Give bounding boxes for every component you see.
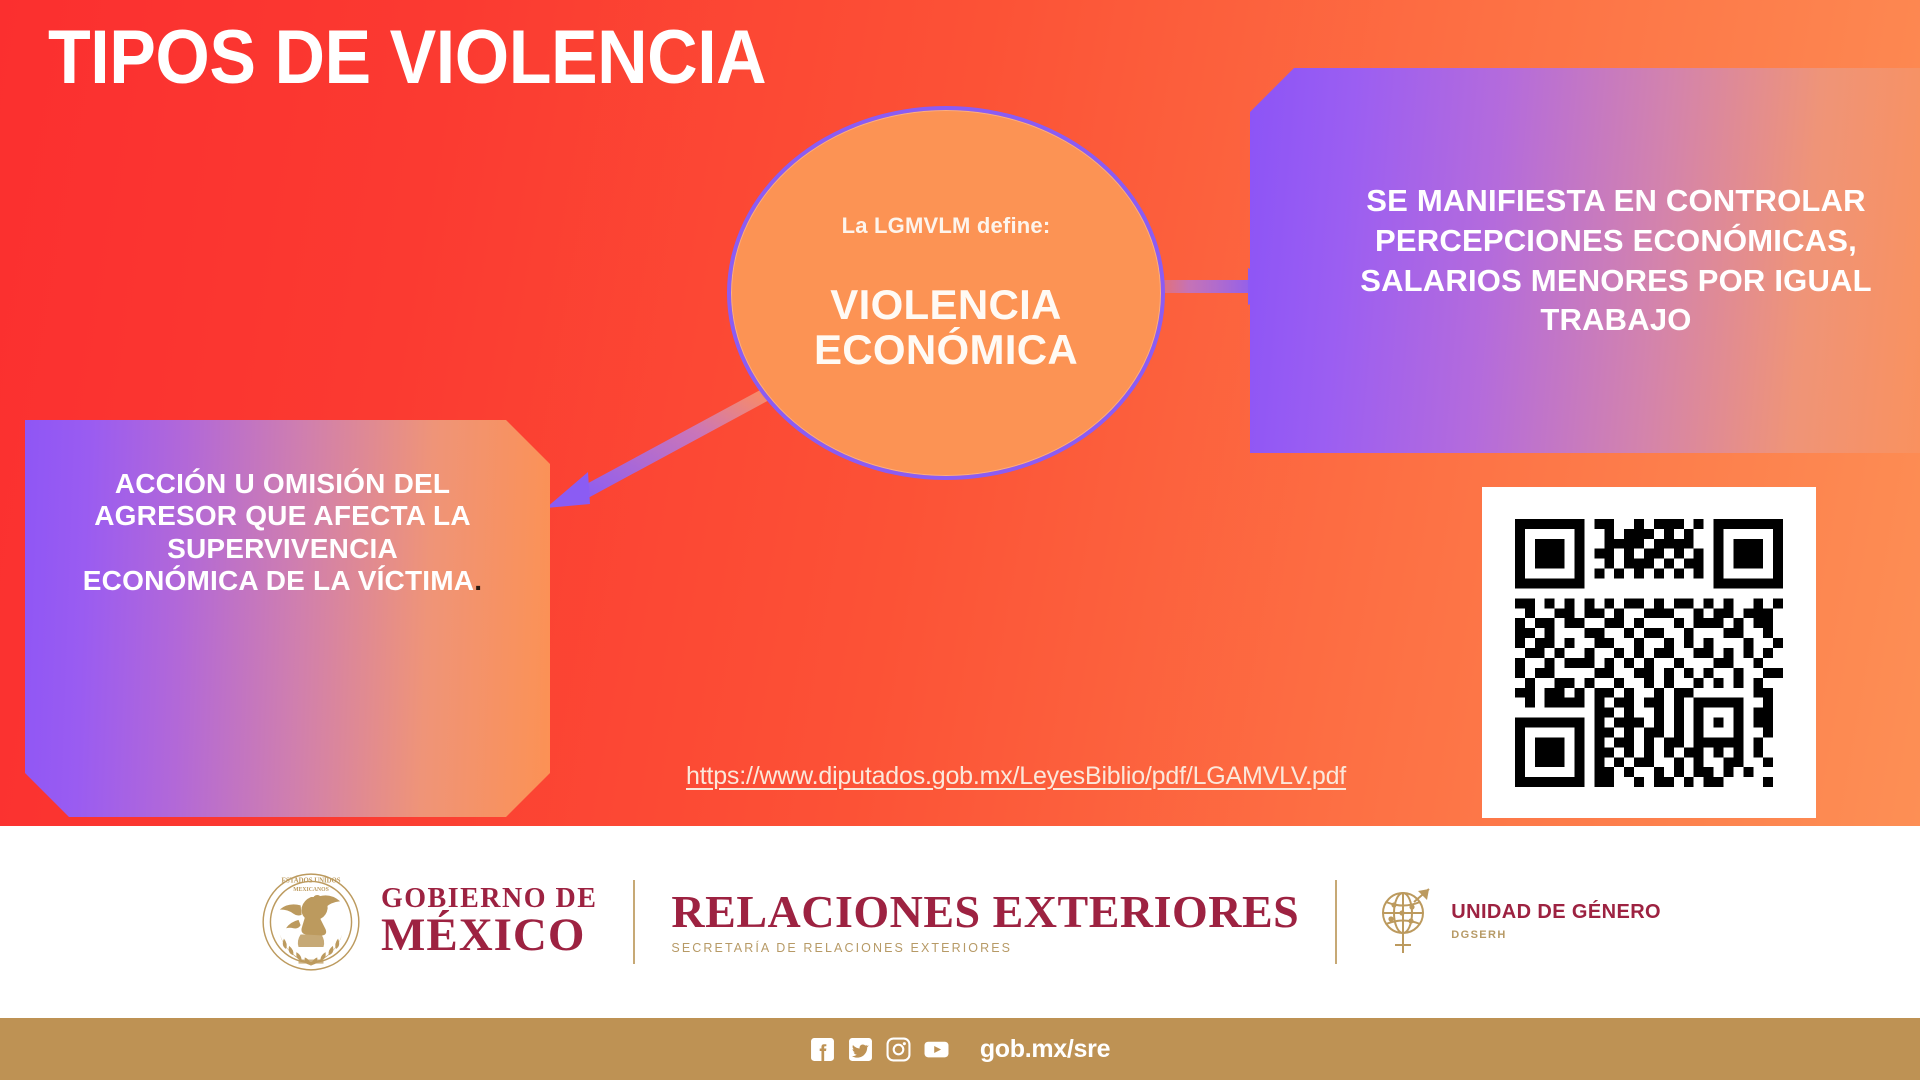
logo-unidad-de-genero: UNIDAD DE GÉNERO DGSERH [1373,885,1661,959]
relaciones-line1: RELACIONES EXTERIORES [671,889,1299,936]
qr-code[interactable] [1482,487,1816,818]
center-node-kicker: La LGMVLM define: [842,213,1051,239]
unidad-line2: DGSERH [1451,930,1661,942]
center-node[interactable]: La LGMVLM define: VIOLENCIA ECONÓMICA [727,106,1165,480]
callout-right-text: SE MANIFIESTA EN CONTROLAR PERCEPCIONES … [1336,181,1896,340]
arrow-to-left-callout-icon [530,388,780,518]
unidad-line1: UNIDAD DE GÉNERO [1451,902,1661,923]
callout-left-text: ACCIÓN U OMISIÓN DEL AGRESOR QUE AFECTA … [77,468,488,598]
callout-left-period: . [474,565,482,596]
gobierno-line2: MÉXICO [381,913,597,958]
callout-left[interactable]: ACCIÓN U OMISIÓN DEL AGRESOR QUE AFECTA … [25,420,550,817]
social-handle[interactable]: gob.mx/sre [980,1035,1110,1064]
center-node-title: VIOLENCIA ECONÓMICA [731,283,1161,372]
callout-right[interactable]: SE MANIFIESTA EN CONTROLAR PERCEPCIONES … [1250,68,1920,453]
callout-left-body: ACCIÓN U OMISIÓN DEL AGRESOR QUE AFECTA … [83,468,474,596]
gender-globe-icon [1373,885,1437,959]
relaciones-exteriores-wordmark: RELACIONES EXTERIORES SECRETARÍA DE RELA… [671,889,1299,955]
social-bar: gob.mx/sre [0,1018,1920,1080]
logo-divider-2 [1335,880,1337,964]
gobierno-de-mexico-wordmark: GOBIERNO DE MÉXICO [381,886,597,958]
facebook-icon[interactable] [810,1037,835,1062]
logo-gobierno-de-mexico: ESTADOS UNIDOS MEXICANOS GOBIERNO DE MÉX… [259,870,597,974]
instagram-icon[interactable] [886,1037,911,1062]
relaciones-line2: SECRETARÍA DE RELACIONES EXTERIORES [671,941,1299,955]
unidad-de-genero-wordmark: UNIDAD DE GÉNERO DGSERH [1451,902,1661,942]
svg-text:ESTADOS UNIDOS: ESTADOS UNIDOS [282,877,341,884]
footer-logos: ESTADOS UNIDOS MEXICANOS GOBIERNO DE MÉX… [0,826,1920,1018]
qr-code-matrix [1505,509,1793,797]
mexican-coat-of-arms-icon: ESTADOS UNIDOS MEXICANOS [259,870,363,974]
poster-canvas: TIPOS DE VIOLENCIA [0,0,1920,826]
source-url-link[interactable]: https://www.diputados.gob.mx/LeyesBiblio… [686,762,1346,791]
twitter-icon[interactable] [848,1037,873,1062]
logo-divider-1 [633,880,635,964]
poster-root: TIPOS DE VIOLENCIA [0,0,1920,1080]
logo-relaciones-exteriores: RELACIONES EXTERIORES SECRETARÍA DE RELA… [671,889,1299,955]
page-title: TIPOS DE VIOLENCIA [48,18,766,98]
svg-text:MEXICANOS: MEXICANOS [293,887,329,893]
youtube-icon[interactable] [924,1037,949,1062]
